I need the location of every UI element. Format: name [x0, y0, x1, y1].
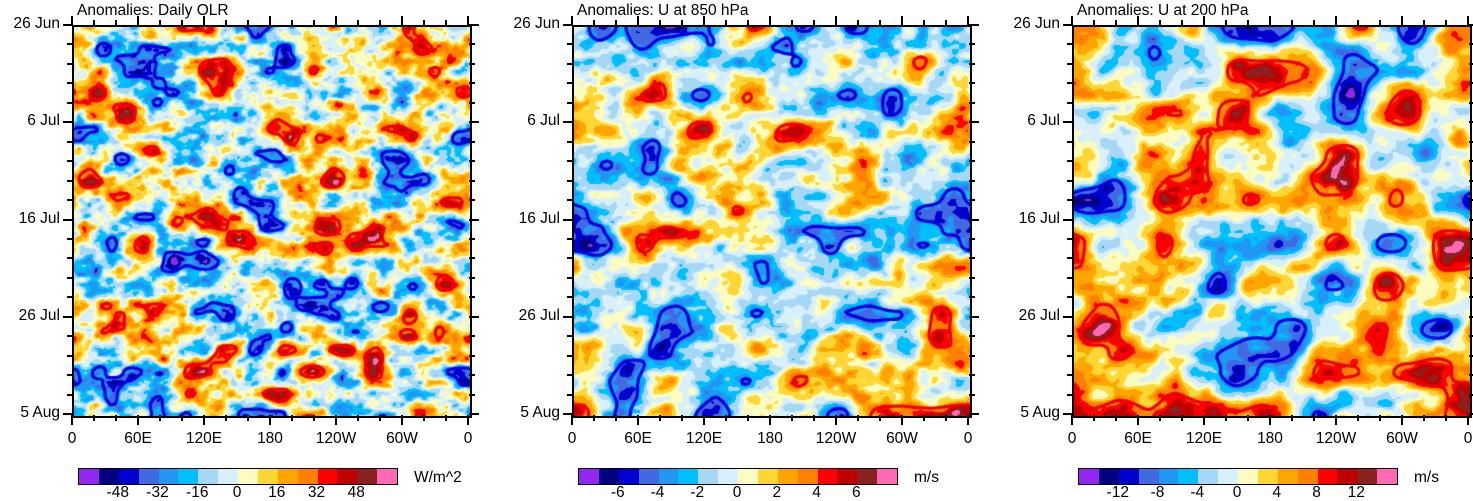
colorbar-tick-label: -12 [1107, 484, 1129, 501]
x-axis-minor-tick [879, 415, 881, 421]
y-axis-minor-tick-right [1469, 238, 1473, 240]
colorbar-tick-label: -4 [1190, 484, 1204, 501]
x-axis-minor-tick-top [725, 20, 727, 26]
y-axis-minor-tick-right [469, 335, 475, 337]
y-axis-minor-tick [567, 257, 573, 259]
colorbar-tick-label: 8 [1312, 484, 1321, 501]
y-axis-minor-tick [1067, 141, 1073, 143]
x-axis-major-tick [1137, 415, 1139, 425]
panel-title: Anomalies: U at 200 hPa [1077, 2, 1248, 19]
y-axis-major-tick [63, 219, 73, 221]
x-axis-major-tick-top [335, 16, 337, 26]
x-axis-minor-tick [181, 415, 183, 421]
colorbar-unit-label: m/s [1414, 469, 1439, 486]
y-axis-minor-tick [567, 160, 573, 162]
plot-area[interactable] [1072, 25, 1472, 418]
x-axis-major-tick [1401, 415, 1403, 425]
y-axis-minor-tick [567, 374, 573, 376]
heatmap-canvas [74, 27, 470, 416]
y-axis-tick-label: 6 Jul [477, 113, 560, 129]
colorbar-tick-label: 16 [268, 484, 285, 501]
colorbar-cell [798, 469, 818, 484]
y-axis-tick-label: 26 Jun [477, 16, 560, 32]
y-axis-tick-label: 6 Jul [977, 113, 1060, 129]
colorbar-tick-label: -4 [651, 484, 665, 501]
y-axis-tick-label: 5 Aug [0, 405, 60, 421]
colorbar-cell [639, 469, 659, 484]
x-axis-minor-tick [659, 415, 661, 421]
x-axis-minor-tick [1225, 415, 1227, 421]
y-axis-minor-tick-right [469, 141, 475, 143]
x-axis-major-tick [769, 415, 771, 425]
x-axis-minor-tick [813, 415, 815, 421]
colorbar-cell [79, 469, 99, 484]
colorbar-tick-label: 2 [772, 484, 781, 501]
x-axis-minor-tick [593, 415, 595, 421]
x-axis-minor-tick-top [247, 20, 249, 26]
x-axis-major-tick [269, 415, 271, 425]
colorbar-cell [738, 469, 758, 484]
x-axis-minor-tick [291, 415, 293, 421]
x-axis-minor-tick-top [659, 20, 661, 26]
x-axis-minor-tick [225, 415, 227, 421]
colorbar-tick-label: 4 [812, 484, 821, 501]
x-axis-minor-tick-top [791, 20, 793, 26]
x-axis-minor-tick [313, 415, 315, 421]
y-axis-minor-tick [67, 277, 73, 279]
colorbar-cell [579, 469, 599, 484]
x-axis-major-tick-top [269, 16, 271, 26]
x-axis-minor-tick [159, 415, 161, 421]
x-axis-major-tick [401, 415, 403, 425]
y-axis-minor-tick-right [1469, 82, 1473, 84]
colorbar-cell [1258, 469, 1278, 484]
x-axis-major-tick-top [1203, 16, 1205, 26]
y-axis-minor-tick-right [969, 141, 975, 143]
x-axis-major-tick [901, 415, 903, 425]
y-axis-minor-tick-right [969, 63, 975, 65]
plot-area[interactable] [572, 25, 972, 418]
colorbar-tick-label: -2 [690, 484, 704, 501]
colorbar [78, 468, 398, 485]
y-axis-minor-tick-right [969, 335, 975, 337]
x-axis-minor-tick-top [1159, 20, 1161, 26]
y-axis-minor-tick [1067, 160, 1073, 162]
y-axis-minor-tick [1067, 238, 1073, 240]
x-axis-tick-label: 0 [1423, 431, 1473, 447]
y-axis-minor-tick-right [469, 63, 475, 65]
y-axis-minor-tick [1067, 296, 1073, 298]
x-axis-minor-tick-top [181, 20, 183, 26]
colorbar [578, 468, 898, 485]
colorbar-cell [357, 469, 377, 484]
x-axis-minor-tick [725, 415, 727, 421]
y-axis-major-tick [563, 316, 573, 318]
colorbar-cell [298, 469, 318, 484]
y-axis-minor-tick [567, 394, 573, 396]
y-axis-minor-tick [67, 355, 73, 357]
x-axis-major-tick [203, 415, 205, 425]
x-axis-major-tick-top [967, 16, 969, 26]
x-axis-minor-tick [945, 415, 947, 421]
colorbar-tick-label: -6 [611, 484, 625, 501]
colorbar-cell [1238, 469, 1258, 484]
y-axis-minor-tick [67, 141, 73, 143]
y-axis-minor-tick-right [969, 82, 975, 84]
x-axis-minor-tick-top [159, 20, 161, 26]
y-axis-minor-tick-right [1469, 160, 1473, 162]
y-axis-tick-label: 16 Jul [977, 211, 1060, 227]
y-axis-minor-tick-right [469, 43, 475, 45]
x-axis-major-tick [1071, 415, 1073, 425]
y-axis-minor-tick [567, 296, 573, 298]
colorbar-cell [1318, 469, 1338, 484]
x-axis-major-tick [1467, 415, 1469, 425]
colorbar-tick-label: -48 [107, 484, 129, 501]
y-axis-minor-tick-right [469, 394, 475, 396]
y-axis-minor-tick-right [969, 394, 975, 396]
colorbar-cell [877, 469, 897, 484]
y-axis-tick-label: 26 Jul [0, 308, 60, 324]
y-axis-minor-tick [67, 394, 73, 396]
y-axis-minor-tick-right [969, 296, 975, 298]
x-axis-minor-tick [357, 415, 359, 421]
y-axis-minor-tick [1067, 257, 1073, 259]
colorbar-cell [119, 469, 139, 484]
plot-area[interactable] [72, 25, 472, 418]
y-axis-minor-tick-right [469, 257, 475, 259]
x-axis-major-tick-top [637, 16, 639, 26]
y-axis-minor-tick [1067, 374, 1073, 376]
y-axis-minor-tick [67, 374, 73, 376]
y-axis-minor-tick-right [469, 180, 475, 182]
y-axis-minor-tick [567, 180, 573, 182]
y-axis-minor-tick [67, 180, 73, 182]
x-axis-minor-tick [445, 415, 447, 421]
x-axis-minor-tick [681, 415, 683, 421]
x-axis-minor-tick [115, 415, 117, 421]
x-axis-minor-tick-top [379, 20, 381, 26]
x-axis-minor-tick [423, 415, 425, 421]
x-axis-major-tick [637, 415, 639, 425]
colorbar-cell [758, 469, 778, 484]
y-axis-minor-tick [567, 43, 573, 45]
x-axis-minor-tick-top [747, 20, 749, 26]
x-axis-minor-tick-top [593, 20, 595, 26]
y-axis-major-tick [563, 219, 573, 221]
x-axis-minor-tick [379, 415, 381, 421]
y-axis-tick-label: 6 Jul [0, 113, 60, 129]
y-axis-tick-label: 16 Jul [477, 211, 560, 227]
colorbar-tick-label: 32 [308, 484, 325, 501]
y-axis-major-tick [1063, 121, 1073, 123]
x-axis-major-tick [967, 415, 969, 425]
x-axis-minor-tick [747, 415, 749, 421]
colorbar-cell [318, 469, 338, 484]
x-axis-minor-tick-top [313, 20, 315, 26]
y-axis-major-tick-right [1469, 121, 1473, 123]
y-axis-minor-tick [1067, 277, 1073, 279]
y-axis-minor-tick-right [969, 238, 975, 240]
colorbar-cell [678, 469, 698, 484]
x-axis-major-tick-top [1401, 16, 1403, 26]
x-axis-minor-tick-top [423, 20, 425, 26]
x-axis-minor-tick-top [1291, 20, 1293, 26]
x-axis-major-tick [1269, 415, 1271, 425]
y-axis-minor-tick-right [1469, 335, 1473, 337]
y-axis-minor-tick-right [469, 102, 475, 104]
x-axis-minor-tick-top [1247, 20, 1249, 26]
colorbar-cell [377, 469, 397, 484]
y-axis-minor-tick-right [969, 374, 975, 376]
colorbar-cell [1278, 469, 1298, 484]
y-axis-minor-tick-right [969, 277, 975, 279]
x-axis-minor-tick-top [1313, 20, 1315, 26]
x-axis-major-tick [467, 415, 469, 425]
x-axis-minor-tick [1115, 415, 1117, 421]
colorbar-cell [178, 469, 198, 484]
y-axis-minor-tick-right [469, 374, 475, 376]
x-axis-minor-tick-top [115, 20, 117, 26]
panel-title: Anomalies: Daily OLR [77, 2, 229, 19]
y-axis-minor-tick-right [969, 180, 975, 182]
x-axis-minor-tick-top [1115, 20, 1117, 26]
x-axis-major-tick-top [467, 16, 469, 26]
colorbar-tick-label: -16 [186, 484, 208, 501]
y-axis-minor-tick-right [1469, 180, 1473, 182]
colorbar-cell [1298, 469, 1318, 484]
y-axis-minor-tick-right [1469, 277, 1473, 279]
y-axis-minor-tick-right [1469, 141, 1473, 143]
y-axis-minor-tick [1067, 355, 1073, 357]
x-axis-minor-tick-top [357, 20, 359, 26]
y-axis-minor-tick [67, 335, 73, 337]
x-axis-minor-tick [1379, 415, 1381, 421]
x-axis-major-tick-top [401, 16, 403, 26]
x-axis-tick-label: 0 [423, 431, 513, 447]
x-axis-minor-tick-top [1379, 20, 1381, 26]
y-axis-major-tick [1063, 219, 1073, 221]
x-axis-major-tick [71, 415, 73, 425]
colorbar-cell [238, 469, 258, 484]
y-axis-minor-tick-right [469, 277, 475, 279]
x-axis-minor-tick-top [1225, 20, 1227, 26]
x-axis-major-tick [835, 415, 837, 425]
y-axis-minor-tick-right [1469, 296, 1473, 298]
x-axis-major-tick-top [901, 16, 903, 26]
y-axis-minor-tick [67, 257, 73, 259]
y-axis-minor-tick [1067, 102, 1073, 104]
x-axis-major-tick-top [1137, 16, 1139, 26]
x-axis-minor-tick [1291, 415, 1293, 421]
x-axis-minor-tick-top [945, 20, 947, 26]
x-axis-major-tick [1335, 415, 1337, 425]
x-axis-minor-tick-top [813, 20, 815, 26]
colorbar-cell [1099, 469, 1119, 484]
y-axis-tick-label: 26 Jun [977, 16, 1060, 32]
y-axis-minor-tick [567, 141, 573, 143]
x-axis-major-tick-top [1335, 16, 1337, 26]
colorbar-cell [1377, 469, 1397, 484]
y-axis-tick-label: 5 Aug [477, 405, 560, 421]
x-axis-minor-tick [1247, 415, 1249, 421]
x-axis-minor-tick [93, 415, 95, 421]
x-axis-minor-tick [857, 415, 859, 421]
colorbar-cell [1178, 469, 1198, 484]
y-axis-minor-tick [67, 43, 73, 45]
colorbar [1078, 468, 1398, 485]
x-axis-major-tick [1203, 415, 1205, 425]
y-axis-minor-tick-right [1469, 257, 1473, 259]
x-axis-minor-tick [1423, 415, 1425, 421]
y-axis-minor-tick-right [1469, 355, 1473, 357]
panel-title: Anomalies: U at 850 hPa [577, 2, 748, 19]
colorbar-cell [659, 469, 679, 484]
y-axis-minor-tick [67, 82, 73, 84]
heatmap-canvas [1074, 27, 1470, 416]
y-axis-minor-tick [1067, 335, 1073, 337]
y-axis-minor-tick-right [1469, 63, 1473, 65]
y-axis-major-tick-right [1469, 219, 1473, 221]
x-axis-major-tick-top [835, 16, 837, 26]
y-axis-minor-tick [567, 335, 573, 337]
colorbar-cell [1139, 469, 1159, 484]
y-axis-minor-tick-right [1469, 43, 1473, 45]
figure-root: Anomalies: Daily OLR26 Jun6 Jul16 Jul26 … [0, 0, 1473, 501]
x-axis-minor-tick-top [879, 20, 881, 26]
x-axis-minor-tick-top [1357, 20, 1359, 26]
colorbar-tick-label: -32 [146, 484, 168, 501]
y-axis-tick-label: 26 Jun [0, 16, 60, 32]
y-axis-minor-tick-right [469, 238, 475, 240]
colorbar-unit-label: m/s [914, 469, 939, 486]
colorbar-cell [1218, 469, 1238, 484]
y-axis-minor-tick [67, 63, 73, 65]
y-axis-major-tick-right [1469, 316, 1473, 318]
colorbar-tick-label: 6 [852, 484, 861, 501]
x-axis-minor-tick-top [93, 20, 95, 26]
y-axis-minor-tick [1067, 82, 1073, 84]
y-axis-minor-tick-right [1469, 199, 1473, 201]
x-axis-minor-tick [615, 415, 617, 421]
x-axis-major-tick-top [703, 16, 705, 26]
colorbar-cell [599, 469, 619, 484]
colorbar-tick-label: 48 [348, 484, 365, 501]
y-axis-minor-tick [1067, 180, 1073, 182]
x-axis-minor-tick [1093, 415, 1095, 421]
y-axis-major-tick-right [1469, 24, 1473, 26]
x-axis-major-tick-top [1071, 16, 1073, 26]
y-axis-minor-tick [67, 199, 73, 201]
x-axis-minor-tick [923, 415, 925, 421]
y-axis-minor-tick-right [469, 296, 475, 298]
y-axis-minor-tick [567, 63, 573, 65]
heatmap-canvas [574, 27, 970, 416]
y-axis-minor-tick [567, 355, 573, 357]
y-axis-minor-tick [67, 160, 73, 162]
y-axis-tick-label: 5 Aug [977, 405, 1060, 421]
colorbar-cell [159, 469, 179, 484]
x-axis-minor-tick [1313, 415, 1315, 421]
y-axis-major-tick [1063, 316, 1073, 318]
y-axis-major-tick [63, 121, 73, 123]
x-axis-major-tick-top [71, 16, 73, 26]
colorbar-cell [99, 469, 119, 484]
x-axis-minor-tick [791, 415, 793, 421]
y-axis-minor-tick-right [1469, 394, 1473, 396]
y-axis-minor-tick [1067, 199, 1073, 201]
x-axis-minor-tick-top [445, 20, 447, 26]
colorbar-cell [778, 469, 798, 484]
y-axis-minor-tick-right [469, 199, 475, 201]
x-axis-major-tick [137, 415, 139, 425]
y-axis-minor-tick [67, 296, 73, 298]
colorbar-tick-label: 0 [733, 484, 742, 501]
colorbar-cell [258, 469, 278, 484]
colorbar-cell [218, 469, 238, 484]
colorbar-cell [837, 469, 857, 484]
colorbar-cell [278, 469, 298, 484]
x-axis-major-tick [703, 415, 705, 425]
colorbar-cell [337, 469, 357, 484]
y-axis-tick-label: 16 Jul [0, 211, 60, 227]
colorbar-cell [1337, 469, 1357, 484]
y-axis-minor-tick [567, 238, 573, 240]
y-axis-tick-label: 26 Jul [977, 308, 1060, 324]
x-axis-minor-tick-top [1093, 20, 1095, 26]
y-axis-minor-tick [1067, 43, 1073, 45]
x-axis-minor-tick [1181, 415, 1183, 421]
colorbar-cell [718, 469, 738, 484]
x-axis-minor-tick-top [291, 20, 293, 26]
colorbar-cell [1119, 469, 1139, 484]
y-axis-minor-tick-right [969, 43, 975, 45]
y-axis-minor-tick-right [969, 355, 975, 357]
y-axis-minor-tick-right [469, 160, 475, 162]
y-axis-major-tick [563, 121, 573, 123]
x-axis-minor-tick-top [681, 20, 683, 26]
y-axis-minor-tick [67, 238, 73, 240]
y-axis-minor-tick-right [969, 102, 975, 104]
y-axis-tick-label: 26 Jul [477, 308, 560, 324]
x-axis-major-tick [571, 415, 573, 425]
colorbar-unit-label: W/m^2 [414, 469, 462, 486]
x-axis-minor-tick-top [857, 20, 859, 26]
colorbar-cell [139, 469, 159, 484]
colorbar-tick-label: 4 [1272, 484, 1281, 501]
x-axis-tick-label: 0 [923, 431, 1013, 447]
x-axis-major-tick-top [1269, 16, 1271, 26]
x-axis-major-tick-top [203, 16, 205, 26]
colorbar-cell [619, 469, 639, 484]
x-axis-minor-tick [1445, 415, 1447, 421]
colorbar-cell [857, 469, 877, 484]
y-axis-major-tick [63, 316, 73, 318]
x-axis-minor-tick-top [1423, 20, 1425, 26]
colorbar-tick-label: 12 [1348, 484, 1365, 501]
y-axis-minor-tick [1067, 63, 1073, 65]
colorbar-cell [1159, 469, 1179, 484]
x-axis-major-tick [335, 415, 337, 425]
y-axis-minor-tick-right [969, 160, 975, 162]
x-axis-major-tick-top [1467, 16, 1469, 26]
colorbar-tick-label: -8 [1151, 484, 1165, 501]
x-axis-major-tick-top [571, 16, 573, 26]
y-axis-minor-tick-right [1469, 374, 1473, 376]
x-axis-minor-tick-top [1445, 20, 1447, 26]
x-axis-major-tick-top [769, 16, 771, 26]
y-axis-minor-tick-right [469, 355, 475, 357]
